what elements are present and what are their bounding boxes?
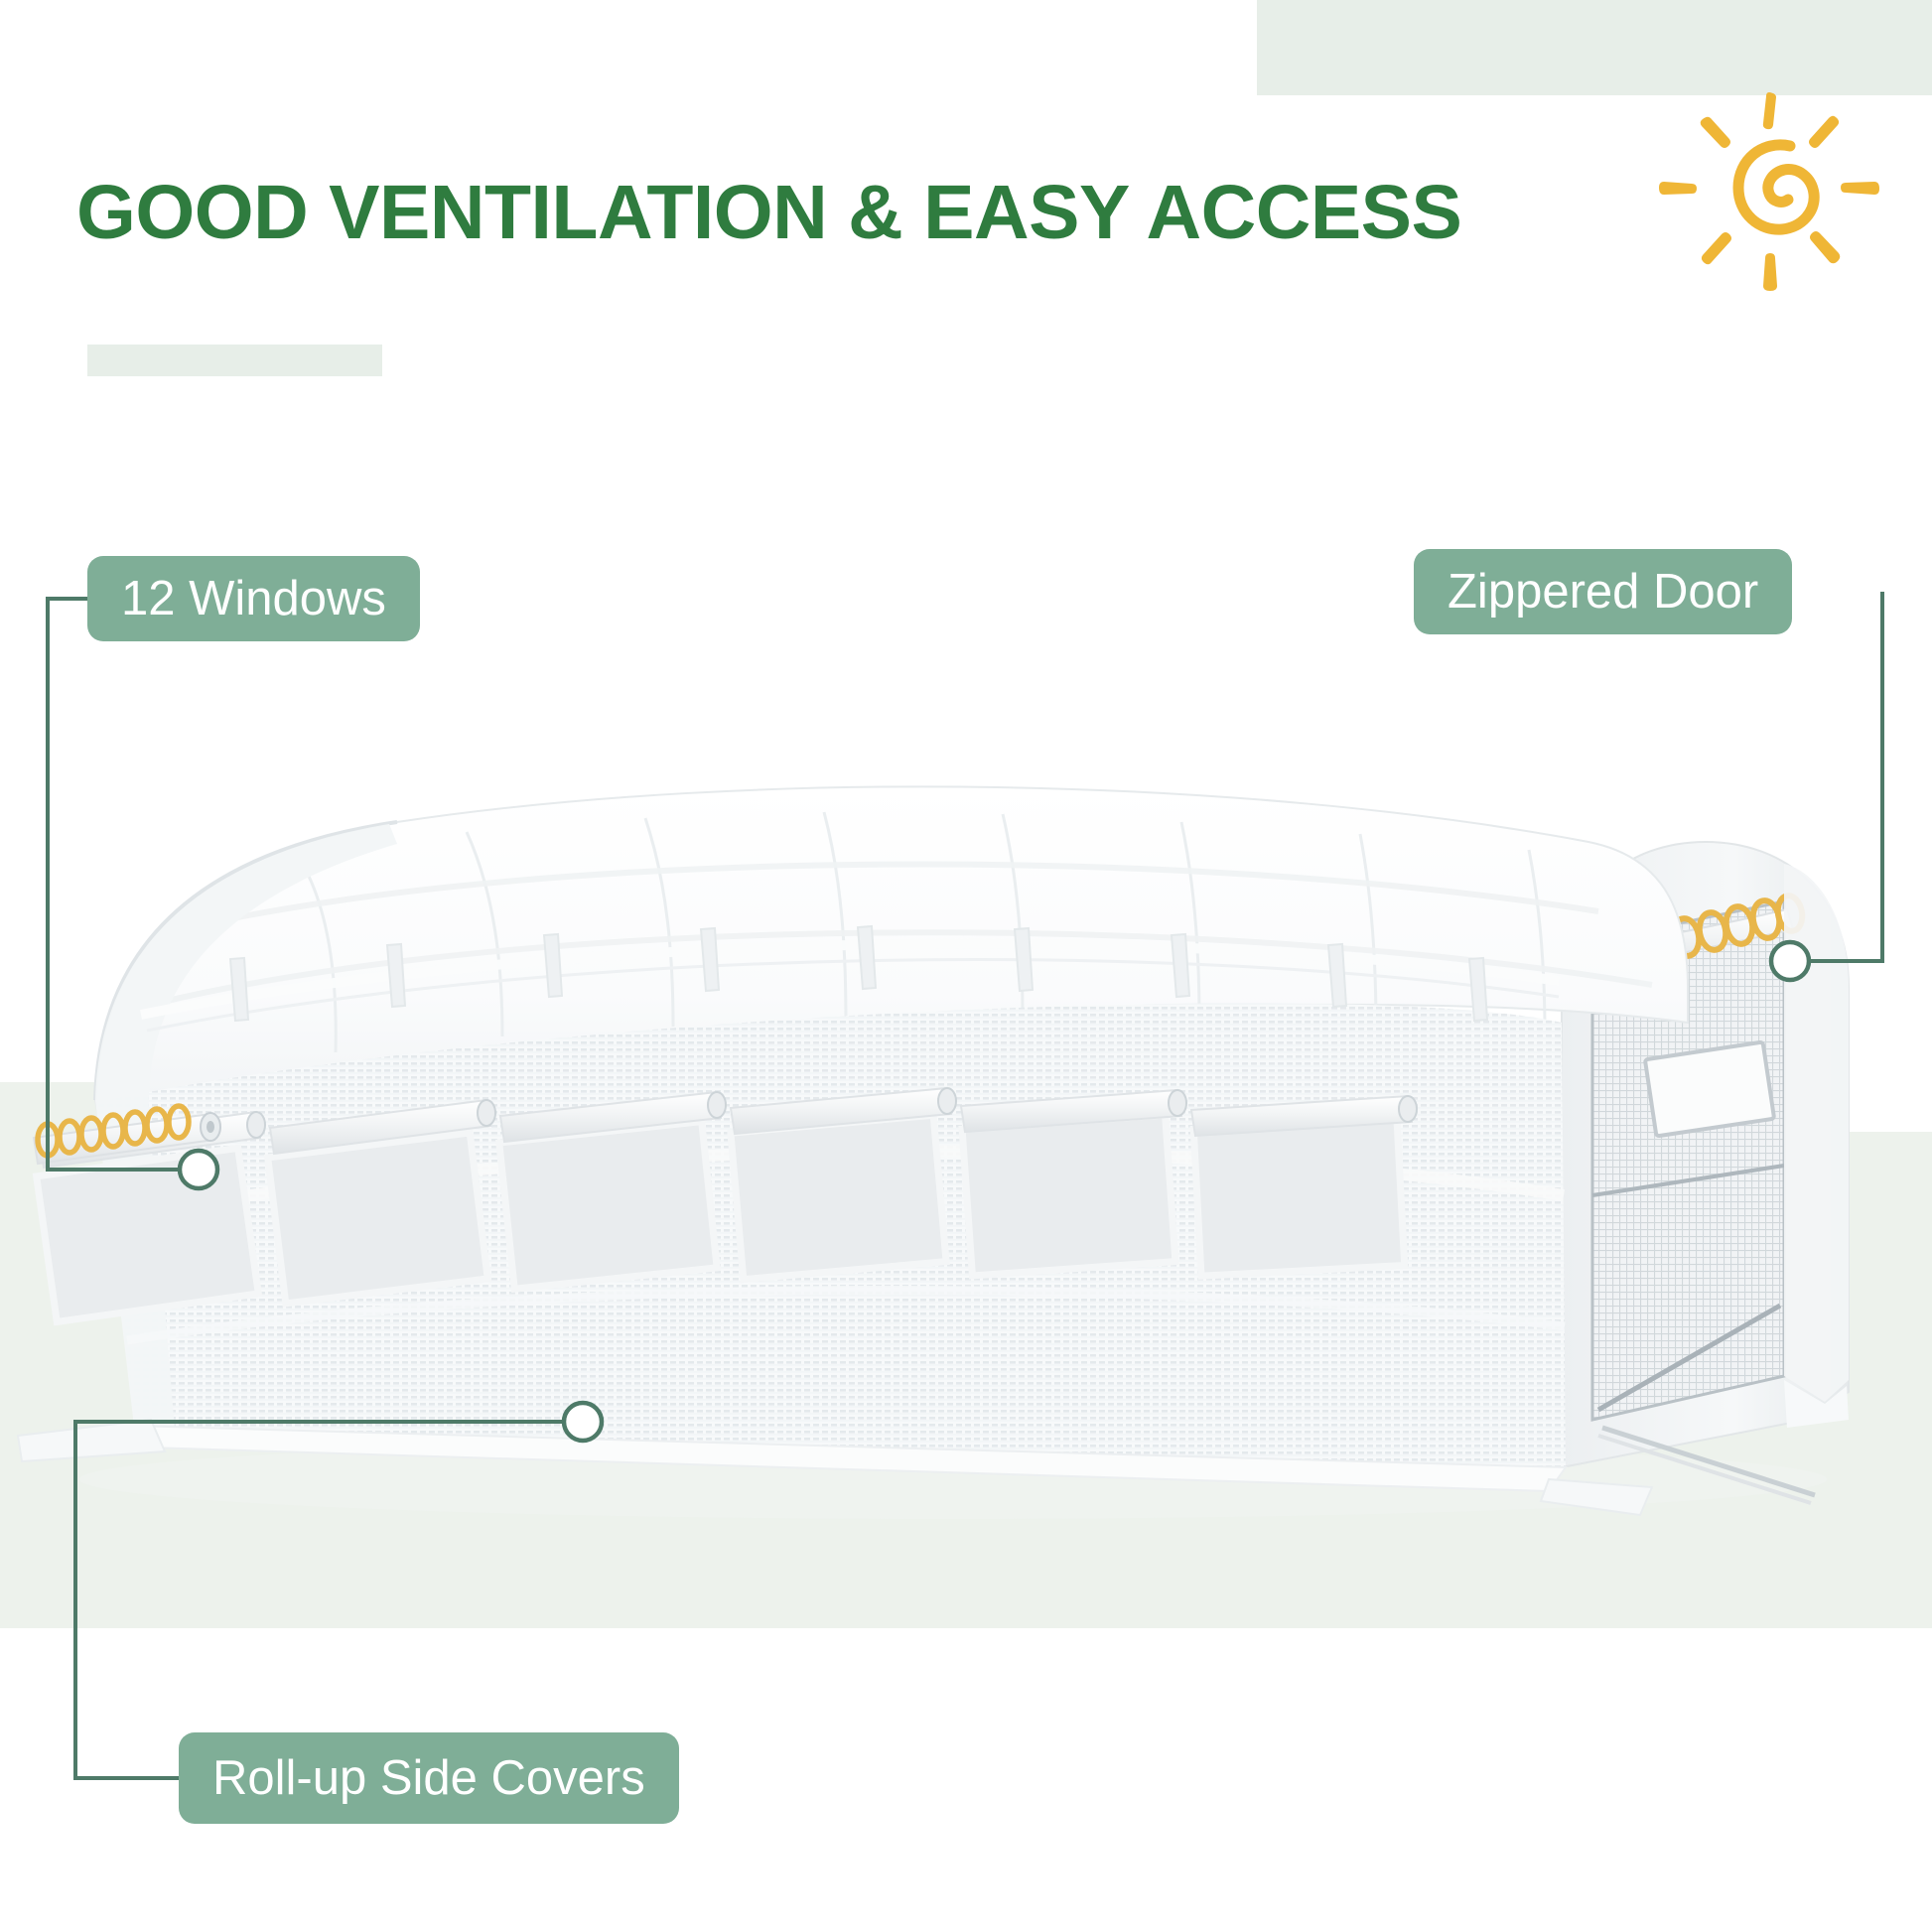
top-right-decor-panel	[1257, 0, 1932, 95]
infographic-canvas: GOOD VENTILATION & EASY ACCESS	[0, 0, 1932, 1932]
callout-label-roll-up-side-covers[interactable]: Roll-up Side Covers	[179, 1732, 679, 1824]
page-title: GOOD VENTILATION & EASY ACCESS	[76, 175, 1461, 251]
sun-spiral-icon	[1643, 84, 1891, 298]
greenhouse-product-image	[0, 784, 1932, 1559]
callout-label-windows[interactable]: 12 Windows	[87, 556, 420, 641]
title-accent-bar	[87, 345, 382, 376]
callout-label-zippered-door[interactable]: Zippered Door	[1414, 549, 1792, 634]
